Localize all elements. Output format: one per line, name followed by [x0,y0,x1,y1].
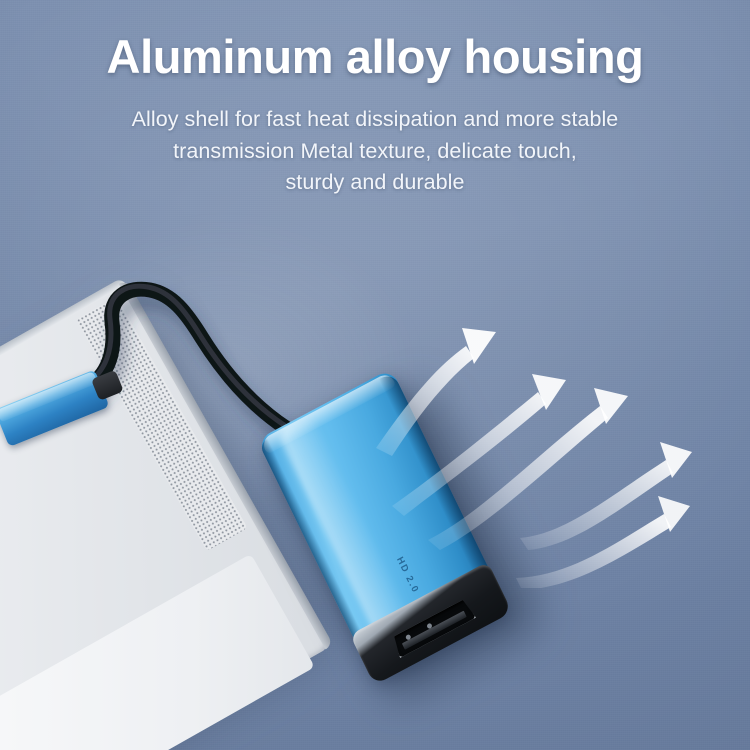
page-title: Aluminum alloy housing [34,32,716,82]
page-subtitle: Alloy shell for fast heat dissipation an… [63,104,688,199]
product-marketing-image: Aluminum alloy housing Alloy shell for f… [0,0,750,750]
subtitle-line-1: Alloy shell for fast heat dissipation an… [63,104,688,136]
subtitle-line-3: sturdy and durable [63,167,688,199]
port-label: HD 2.0 [394,555,421,595]
subtitle-line-2: transmission Metal texture, delicate tou… [63,136,688,168]
marketing-copy: Aluminum alloy housing Alloy shell for f… [0,32,750,199]
